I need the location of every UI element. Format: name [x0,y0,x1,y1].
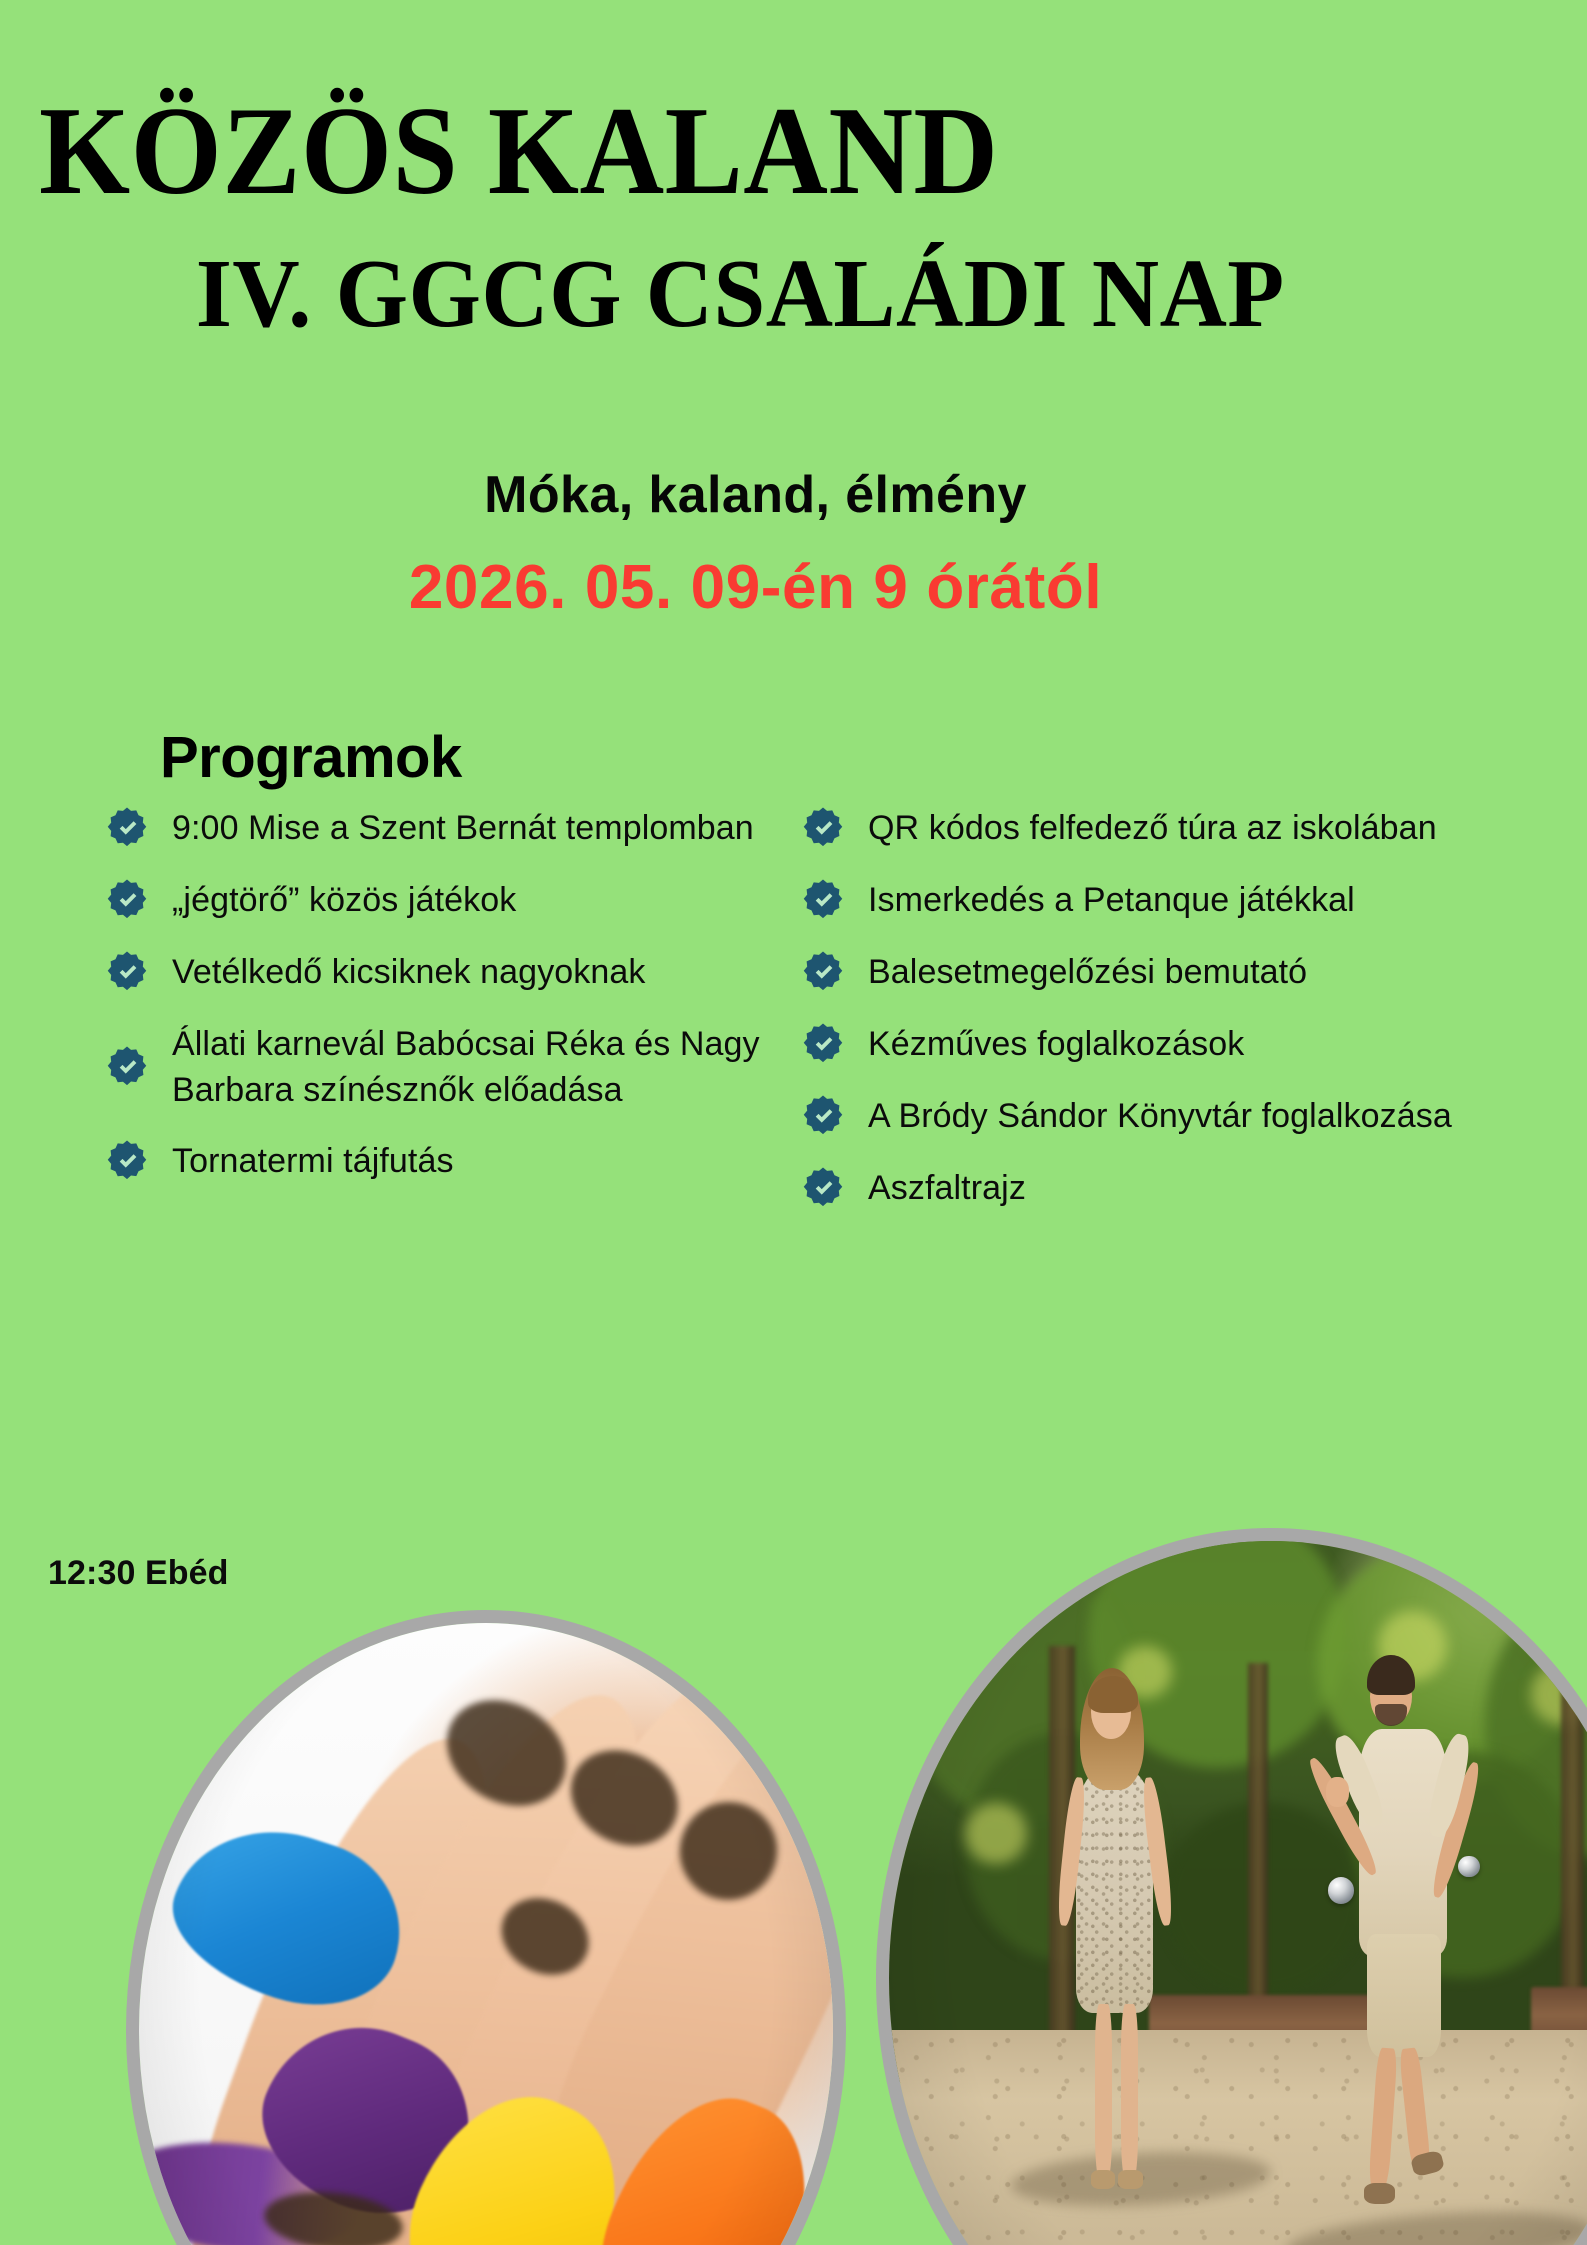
list-item-label: 9:00 Mise a Szent Bernát templomban [172,806,754,852]
woman-hair-front [1088,1676,1138,1713]
list-item-label: QR kódos felfedező túra az iskolában [868,806,1437,852]
woman-sandal [1118,2170,1142,2188]
sun-flare [965,1803,1026,1864]
list-item-label: Balesetmegelőzési bemutató [868,950,1307,996]
list-item-label: Aszfaltrajz [868,1166,1026,1212]
tree-trunk [1561,1628,1584,2048]
woman-leg [1121,2004,1138,2179]
event-date: 2026. 05. 09-én 9 órától [0,552,1549,623]
list-item-label: Ismerkedés a Petanque játékkal [868,878,1355,924]
paint-scene [139,1623,833,2245]
woman-leg [1095,2004,1112,2179]
list-item-label: „jégtörő” közös játékok [172,878,516,924]
paint-fingers-photo [126,1610,846,2245]
man-shoe [1364,2183,1395,2204]
list-item-label: A Bródy Sándor Könyvtár foglalkozása [868,1094,1452,1140]
list-item: Kézműves foglalkozások [800,1022,1460,1068]
check-badge-icon [800,806,846,852]
programs-column-right: QR kódos felfedező túra az iskolában Ism… [800,806,1460,1238]
woman-sandal [1091,2170,1115,2188]
list-item: A Bródy Sándor Könyvtár foglalkozása [800,1094,1460,1140]
list-item-label: Tornatermi tájfutás [172,1139,454,1185]
lunch-time-label: 12:30 Ebéd [48,1554,229,1593]
list-item-label: Kézműves foglalkozások [868,1022,1244,1068]
check-badge-icon [104,1045,150,1091]
man-shirt [1359,1729,1447,1956]
dress-pattern [1076,1768,1152,2013]
check-badge-icon [800,878,846,924]
programs-columns: 9:00 Mise a Szent Bernát templomban „jég… [0,806,1587,1466]
list-item-label: Állati karnevál Babócsai Réka és Nagy Ba… [172,1022,764,1113]
petanque-photo-inner [889,1541,1587,2245]
park-scene [889,1541,1587,2245]
list-item: Ismerkedés a Petanque játékkal [800,878,1460,924]
petanque-ball [1328,1877,1354,1903]
petanque-ball [1458,1856,1479,1878]
list-item: Aszfaltrajz [800,1166,1460,1212]
list-item: QR kódos felfedező túra az iskolában [800,806,1460,852]
list-item: Balesetmegelőzési bemutató [800,950,1460,996]
check-badge-icon [800,950,846,996]
woman-dress [1076,1768,1152,2013]
programs-heading: Programok [160,724,462,791]
list-item: „jégtörő” közös játékok [104,878,764,924]
check-badge-icon [104,878,150,924]
event-tagline: Móka, kaland, élmény [0,465,1549,525]
man-shorts [1367,1934,1442,2056]
check-badge-icon [800,1094,846,1140]
list-item: Tornatermi tájfutás [104,1139,764,1185]
programs-column-left: 9:00 Mise a Szent Bernát templomban „jég… [104,806,764,1211]
poster-canvas: KÖZÖS KALAND IV. GGCG CSALÁDI NAP Móka, … [0,0,1587,2245]
event-title-line1: KÖZÖS KALAND [0,88,1476,217]
list-item: Vetélkedő kicsiknek nagyoknak [104,950,764,996]
title-block: KÖZÖS KALAND IV. GGCG CSALÁDI NAP [0,88,1587,345]
check-badge-icon [800,1022,846,1068]
check-badge-icon [800,1166,846,1212]
petanque-photo [876,1528,1587,2245]
list-item-label: Vetélkedő kicsiknek nagyoknak [172,950,646,996]
list-item: 9:00 Mise a Szent Bernát templomban [104,806,764,852]
tree-trunk [1248,1663,1268,2048]
event-title-line2: IV. GGCG CSALÁDI NAP [0,243,1508,346]
list-item: Állati karnevál Babócsai Réka és Nagy Ba… [104,1022,764,1113]
paint-fingers-photo-inner [139,1623,833,2245]
check-badge-icon [104,950,150,996]
man-hand [1326,1777,1349,1807]
check-badge-icon [104,1139,150,1185]
check-badge-icon [104,806,150,852]
